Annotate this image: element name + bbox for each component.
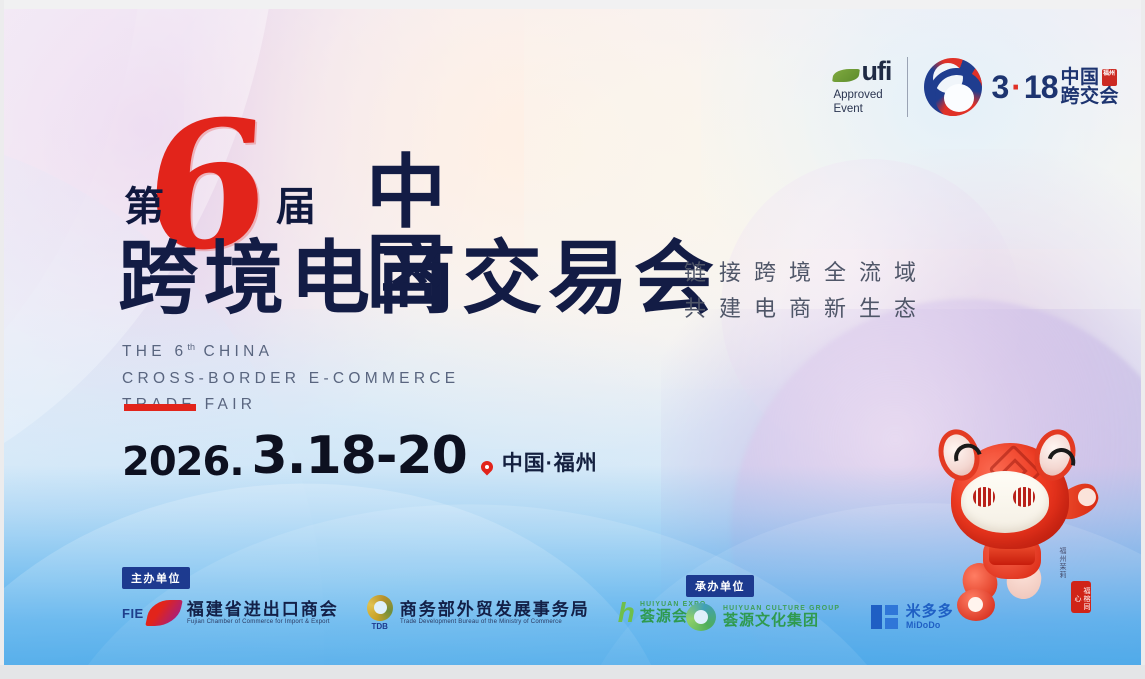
slogan-line-2: 共建电商新生态 bbox=[684, 291, 929, 327]
ufi-event-line: Event bbox=[833, 102, 882, 116]
top-logo-group: ufi Approved Event 3 · 18 bbox=[833, 57, 1119, 117]
mascot-face bbox=[961, 471, 1049, 533]
midodo-name-cn: 米多多 bbox=[906, 604, 954, 621]
huiyuan-expo-mark-icon: h bbox=[618, 599, 633, 627]
organizers-group: 主办单位 FIE 福建省进出口商会 Fujian Chamber of Comm… bbox=[122, 567, 708, 631]
location-text: 中国·福州 bbox=[502, 447, 598, 477]
date-year: 2026. bbox=[122, 442, 244, 482]
sponsor-logo-midodo: 米多多 MiDoDo bbox=[871, 604, 954, 631]
ufi-logo: ufi Approved Event bbox=[833, 58, 891, 117]
window-edge-top bbox=[0, 0, 1145, 9]
title-main: 跨境电商交易会 bbox=[118, 239, 720, 319]
fie-text: 福建省进出口商会 Fujian Chamber of Commerce for … bbox=[187, 600, 339, 626]
english-title-china: CHINA bbox=[195, 343, 273, 360]
english-title-ordinal: th bbox=[187, 342, 195, 352]
red-accent-bar bbox=[124, 404, 196, 411]
english-title-line-1: THE 6th CHINA bbox=[122, 339, 459, 366]
date-range: 3.18-20 bbox=[252, 430, 467, 482]
sponsor-logo-huiyuan-culture: HUIYUAN CULTURE GROUP 荟源文化集团 bbox=[686, 603, 843, 631]
mascot-eye-left bbox=[973, 487, 995, 507]
midodo-text: 米多多 MiDoDo bbox=[906, 604, 954, 631]
fie-swoosh-icon bbox=[145, 600, 183, 626]
tdb-globe-icon bbox=[367, 595, 393, 621]
fair-cn-line-1: 中国 bbox=[1060, 68, 1099, 87]
slogan-line-1: 链接跨境全流域 bbox=[684, 255, 929, 291]
fie-name-cn: 福建省进出口商会 bbox=[187, 600, 339, 619]
tdb-text: 商务部外贸发展事务局 Trade Development Bureau of t… bbox=[400, 600, 590, 626]
co-organizers-badge: 承办单位 bbox=[686, 575, 754, 597]
fair-cn-row-1: 中国 福州 bbox=[1060, 68, 1119, 87]
huiyuan-culture-name-cn: 荟源文化集团 bbox=[723, 613, 843, 630]
globe-icon bbox=[924, 58, 982, 116]
tdb-abbrev: TDB bbox=[372, 622, 388, 631]
organizers-badge: 主办单位 bbox=[122, 567, 190, 589]
midodo-name-en: MiDoDo bbox=[906, 620, 953, 630]
english-title-the-6: THE 6 bbox=[122, 343, 187, 360]
sponsor-logo-fie: FIE 福建省进出口商会 Fujian Chamber of Commerce … bbox=[122, 600, 339, 626]
wifi-icon-right bbox=[1042, 443, 1080, 481]
slogan-block: 链接跨境全流域 共建电商新生态 bbox=[684, 255, 929, 326]
tdb-mark-icon: TDB bbox=[367, 595, 393, 631]
fie-mark-icon: FIE bbox=[122, 600, 180, 626]
screenshot-root: ufi Approved Event 3 · 18 bbox=[0, 0, 1145, 679]
window-edge-left bbox=[0, 0, 4, 679]
co-organizers-row: HUIYUAN CULTURE GROUP 荟源文化集团 米多多 MiDoDo bbox=[686, 603, 954, 631]
fair-number-3: 3 bbox=[991, 71, 1008, 103]
date-line: 2026. 3.18-20 中国·福州 bbox=[122, 430, 598, 482]
ufi-approved-event-text: Approved Event bbox=[833, 88, 882, 117]
fie-name-en: Fujian Chamber of Commerce for Import & … bbox=[187, 619, 336, 626]
window-edge-bottom bbox=[0, 665, 1145, 679]
mascot-eye-right bbox=[1013, 487, 1035, 507]
huiyuan-culture-text: HUIYUAN CULTURE GROUP 荟源文化集团 bbox=[723, 605, 843, 630]
ufi-wordmark: ufi bbox=[861, 58, 891, 85]
edition-suffix: 届 bbox=[276, 187, 316, 227]
organizers-row: FIE 福建省进出口商会 Fujian Chamber of Commerce … bbox=[122, 595, 708, 631]
edition-prefix: 第 bbox=[124, 187, 164, 227]
sponsor-logo-tdb: TDB 商务部外贸发展事务局 Trade Development Bureau … bbox=[367, 595, 590, 631]
ufi-leaf-icon bbox=[833, 69, 861, 82]
fair-logo-text: 3 · 18 中国 福州 跨交会 bbox=[991, 68, 1119, 107]
midodo-mark-icon bbox=[871, 605, 899, 629]
sponsor-bar: 主办单位 FIE 福建省进出口商会 Fujian Chamber of Comm… bbox=[4, 547, 1141, 631]
fair-chinese-name: 中国 福州 跨交会 bbox=[1060, 68, 1119, 107]
tdb-name-cn: 商务部外贸发展事务局 bbox=[400, 600, 590, 619]
window-edge-right bbox=[1141, 0, 1145, 679]
huiyuan-culture-name-en: HUIYUAN CULTURE GROUP bbox=[723, 605, 840, 613]
ufi-approved-line: Approved bbox=[833, 88, 882, 102]
ufi-wordmark-row: ufi bbox=[833, 58, 891, 85]
co-organizers-group: 承办单位 HUIYUAN CULTURE GROUP 荟源文化集团 米多多 bbox=[686, 575, 954, 631]
fuzhou-seal-icon: 福州 bbox=[1102, 69, 1117, 86]
tdb-name-en: Trade Development Bureau of the Ministry… bbox=[400, 619, 586, 626]
huiyuan-culture-mark-icon bbox=[686, 603, 716, 631]
event-poster: ufi Approved Event 3 · 18 bbox=[4, 9, 1141, 665]
fair-logo: 3 · 18 中国 福州 跨交会 bbox=[924, 58, 1119, 116]
fair-number-18: 18 bbox=[1024, 71, 1058, 103]
logo-divider bbox=[907, 57, 908, 117]
location-pin-icon bbox=[481, 461, 494, 474]
fair-cn-line-2: 跨交会 bbox=[1060, 87, 1119, 106]
fie-abbrev: FIE bbox=[122, 606, 144, 621]
english-title-line-2: CROSS-BORDER E-COMMERCE bbox=[122, 366, 459, 393]
fair-dot: · bbox=[1011, 71, 1021, 103]
